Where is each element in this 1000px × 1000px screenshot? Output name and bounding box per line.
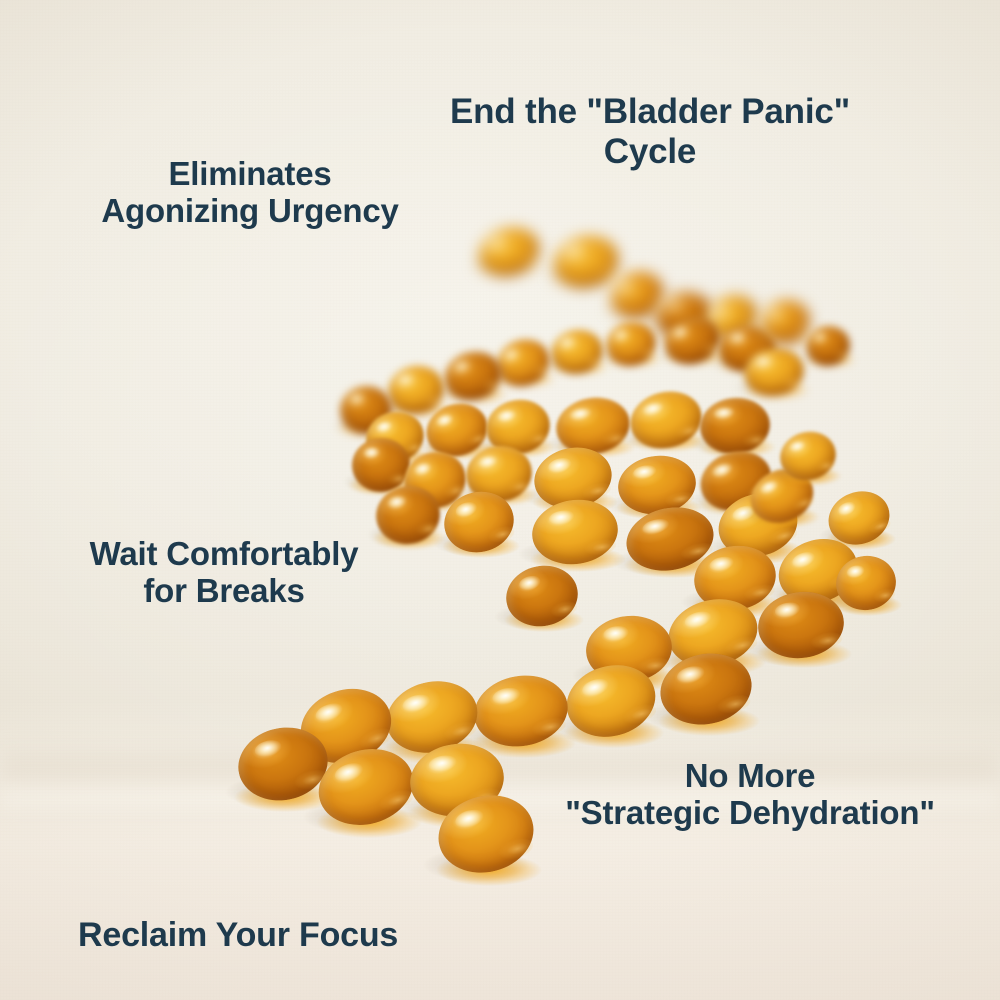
capsule [386,682,478,752]
capsule [551,330,603,374]
capsule [606,322,656,366]
capsule [444,352,502,400]
capsule [478,228,540,276]
headline-wait-comfortably: Wait Comfortably for Breaks [14,535,434,610]
headline-bladder-panic: End the "Bladder Panic" Cycle [420,92,880,171]
capsule [760,300,810,344]
capsule [744,348,804,396]
capsule [474,676,568,746]
capsule [780,432,836,480]
headline-reclaim-focus: Reclaim Your Focus [78,916,498,954]
capsule [506,566,578,626]
capsule [828,492,890,544]
capsule [836,556,896,610]
capsule [352,438,410,492]
headline-eliminates-urgency: Eliminates Agonizing Urgency [20,155,480,230]
capsule [566,666,656,736]
capsule [806,326,850,366]
capsule [660,654,752,724]
capsule-body [472,220,546,285]
capsule [618,456,696,514]
capsule [444,492,514,552]
capsule [664,318,720,364]
marketing-image-canvas: End the "Bladder Panic" Cycle Eliminates… [0,0,1000,1000]
headline-strategic-dehydration: No More "Strategic Dehydration" [505,757,995,832]
capsule [700,398,770,454]
capsule [556,398,630,454]
capsule [238,728,328,800]
capsule [532,500,618,564]
capsule [496,340,550,386]
